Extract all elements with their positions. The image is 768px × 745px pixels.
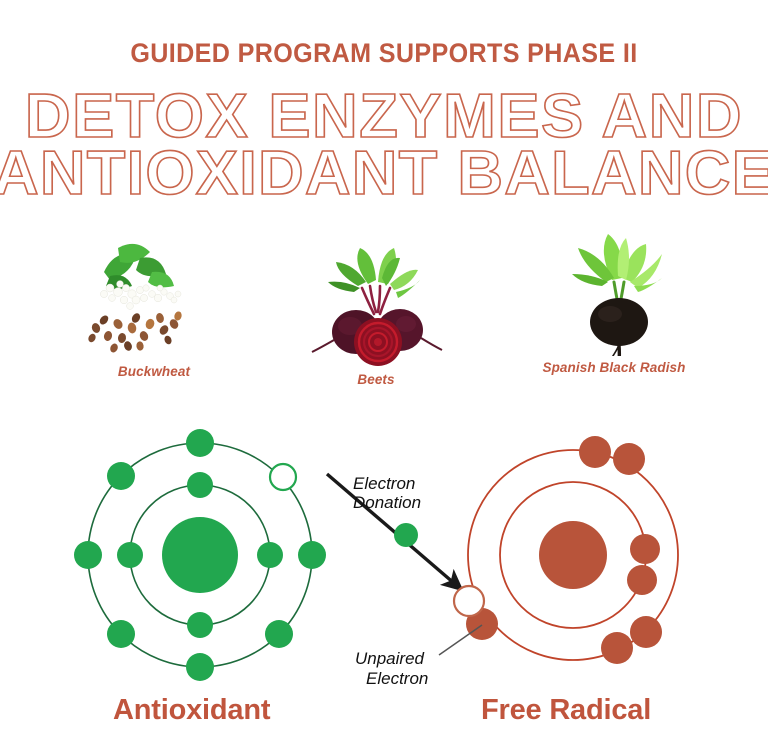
electron-donation-label-line2: Donation: [353, 493, 421, 512]
free-radical-outer-electron: [466, 608, 498, 640]
unpaired-electron-label-line1: Unpaired: [355, 649, 425, 668]
antioxidant-outer-electron: [186, 429, 214, 457]
antioxidant-outer-electron: [74, 541, 102, 569]
free-radical-inner-electron: [627, 565, 657, 595]
antioxidant-inner-electron: [187, 472, 213, 498]
page-title-line-1: DETOX ENZYMES AND: [0, 88, 768, 145]
antioxidant-outer-electron: [298, 541, 326, 569]
buckwheat-image: [74, 232, 234, 360]
antioxidant-inner-electron: [257, 542, 283, 568]
page-eyebrow: GUIDED PROGRAM SUPPORTS PHASE II: [27, 38, 741, 69]
antioxidant-inner-orbit: [130, 485, 270, 625]
antioxidant-outer-electron: [107, 462, 135, 490]
page-title: DETOX ENZYMES AND ANTIOXIDANT BALANCE: [0, 88, 768, 202]
free-radical-outer-electron: [579, 436, 611, 468]
free-radical-outer-electron: [630, 616, 662, 648]
free-radical-inner-orbit: [500, 482, 646, 628]
beets-image: [296, 240, 456, 368]
ingredient-row: Buckwheat: [0, 232, 768, 407]
free-radical-atom: [454, 436, 678, 664]
antioxidant-inner-electron: [187, 612, 213, 638]
ingredient-label-beets: Beets: [296, 372, 456, 387]
free-radical-nucleus: [539, 521, 607, 589]
free-radical-caption: Free Radical: [481, 694, 651, 727]
antioxidant-nucleus: [162, 517, 238, 593]
free-radical-outer-electron: [613, 443, 645, 475]
free-radical-outer-orbit: [468, 450, 678, 660]
ingredient-label-black-radish: Spanish Black Radish: [534, 360, 694, 375]
ingredient-buckwheat: Buckwheat: [74, 232, 234, 379]
antioxidant-outer-electron: [265, 620, 293, 648]
free-radical-inner-electron: [630, 534, 660, 564]
antioxidant-caption: Antioxidant: [113, 694, 270, 727]
page-title-line-2: ANTIOXIDANT BALANCE: [0, 145, 768, 202]
free-radical-unpaired-electron: [454, 586, 484, 616]
ingredient-beets: Beets: [296, 240, 456, 387]
unpaired-electron-label-line2: Electron: [366, 669, 428, 688]
antioxidant-outer-electron: [186, 653, 214, 681]
antioxidant-outer-electron: [107, 620, 135, 648]
ingredient-black-radish: Spanish Black Radish: [534, 228, 694, 375]
ingredient-label-buckwheat: Buckwheat: [74, 364, 234, 379]
electron-donation-label-line1: Electron: [353, 474, 415, 493]
free-radical-outer-electron: [601, 632, 633, 664]
black-radish-image: [534, 228, 694, 356]
antioxidant-atom: [74, 429, 326, 681]
antioxidant-outer-orbit: [88, 443, 312, 667]
antioxidant-donated-electron-slot: [270, 464, 296, 490]
unpaired-electron-leader-line: [439, 625, 482, 655]
free-electron: [394, 523, 418, 547]
electron-donation-arrow: [327, 474, 455, 584]
antioxidant-inner-electron: [117, 542, 143, 568]
